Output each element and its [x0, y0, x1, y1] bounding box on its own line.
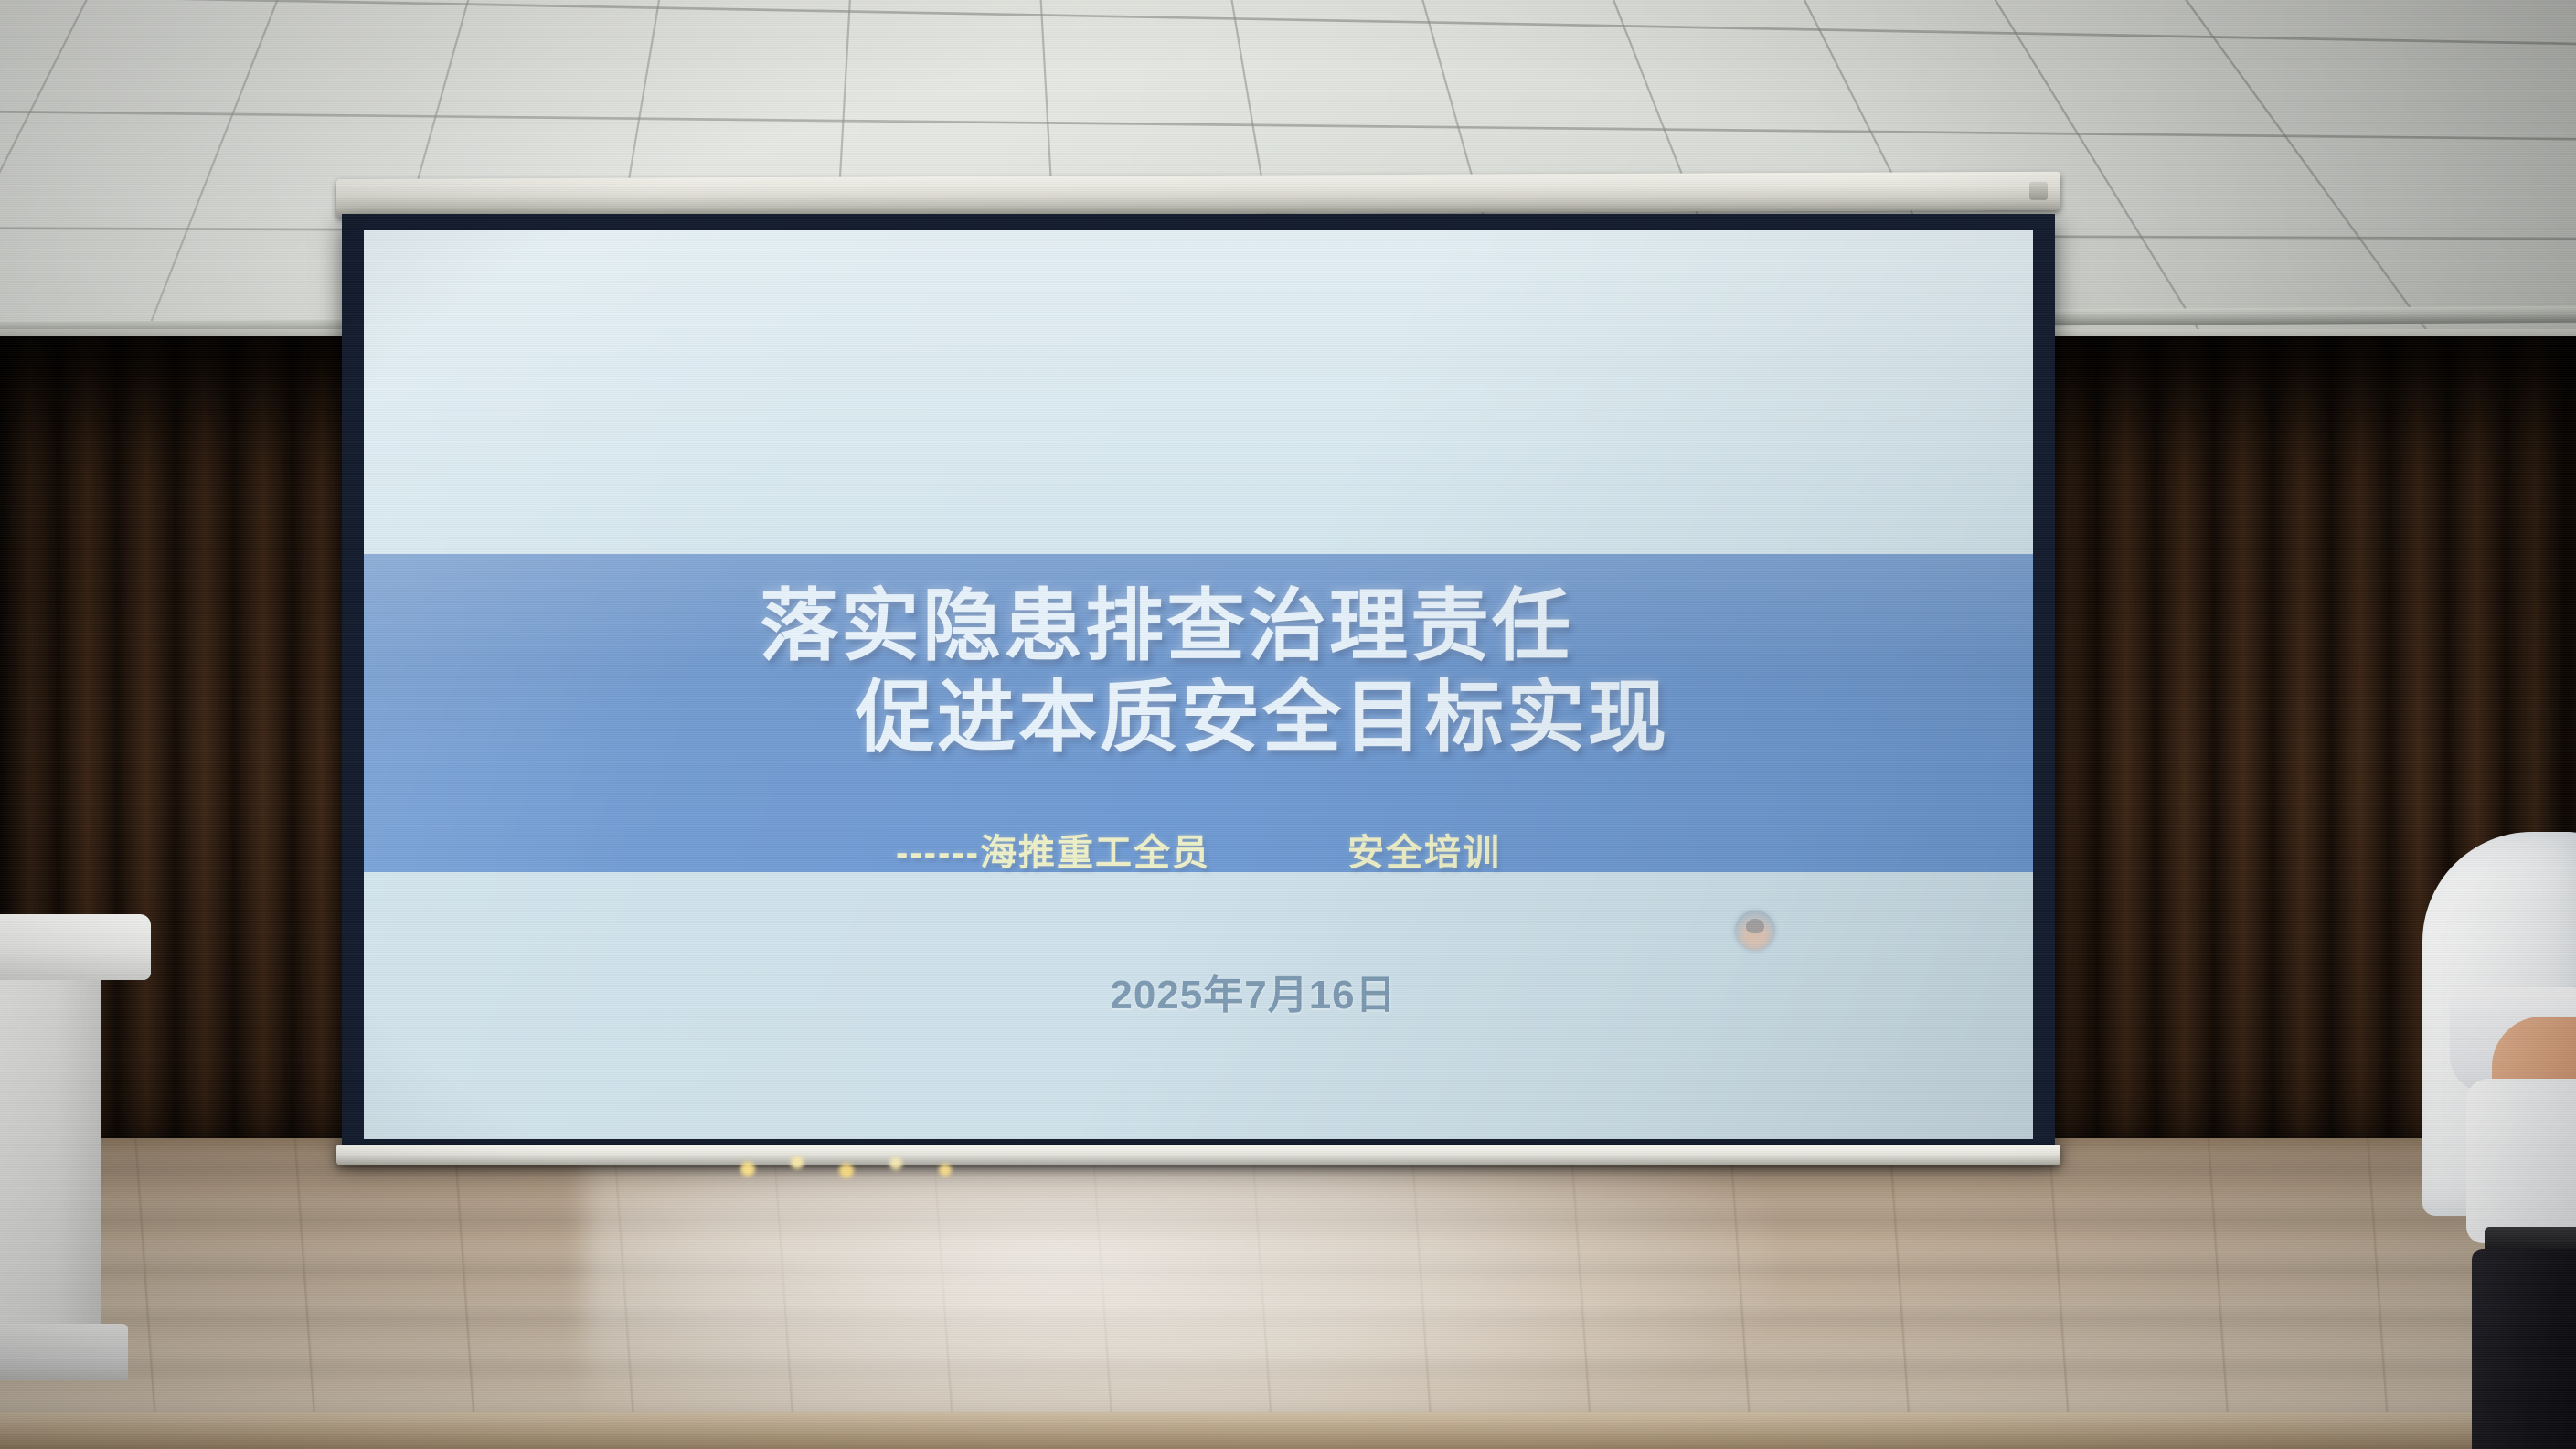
podium-base [0, 1324, 128, 1380]
room-photo-scene: 落实隐患排查治理责任 促进本质安全目标实现 ------海推重工全员 安全培训 … [0, 0, 2576, 1449]
screen-bottom-weight-bar [336, 1145, 2060, 1165]
slide-credit-right: 安全培训 [1347, 823, 1501, 876]
floor-front-strip [0, 1412, 2576, 1449]
podium-column [0, 980, 101, 1327]
gold-decoration-glint [720, 1152, 995, 1183]
floor-light-reflection [585, 1138, 1773, 1449]
attendee-person [2413, 804, 2576, 1449]
podium-top-surface [0, 914, 151, 980]
slide-title-line-1: 落实隐患排查治理责任 [364, 581, 2033, 673]
floor [0, 1138, 2576, 1449]
slide-date: 2025年7月16日 [364, 962, 2033, 1020]
slide-credit-left: ------海推重工全员 [896, 823, 1210, 876]
screen-border: 落实隐患排查治理责任 促进本质安全目标实现 ------海推重工全员 安全培训 … [342, 214, 2055, 1156]
person-trousers [2472, 1249, 2576, 1449]
screen-roller-casing[interactable] [336, 172, 2060, 218]
slide-title: 落实隐患排查治理责任 促进本质安全目标实现 [364, 581, 2033, 764]
curtain-rail-right [2038, 329, 2576, 336]
person-shirt-lower [2466, 1079, 2576, 1243]
slide-credits: ------海推重工全员 安全培训 [364, 823, 2033, 876]
presenter-avatar-icon [1735, 911, 1775, 951]
slide-title-line-2: 促进本质安全目标实现 [364, 673, 2033, 764]
presentation-slide[interactable]: 落实隐患排查治理责任 促进本质安全目标实现 ------海推重工全员 安全培训 … [364, 230, 2033, 1139]
projector-screen[interactable]: 落实隐患排查治理责任 促进本质安全目标实现 ------海推重工全员 安全培训 … [336, 179, 2060, 1176]
podium[interactable] [0, 914, 151, 1390]
screen-casing-bracket-icon [2029, 182, 2048, 200]
